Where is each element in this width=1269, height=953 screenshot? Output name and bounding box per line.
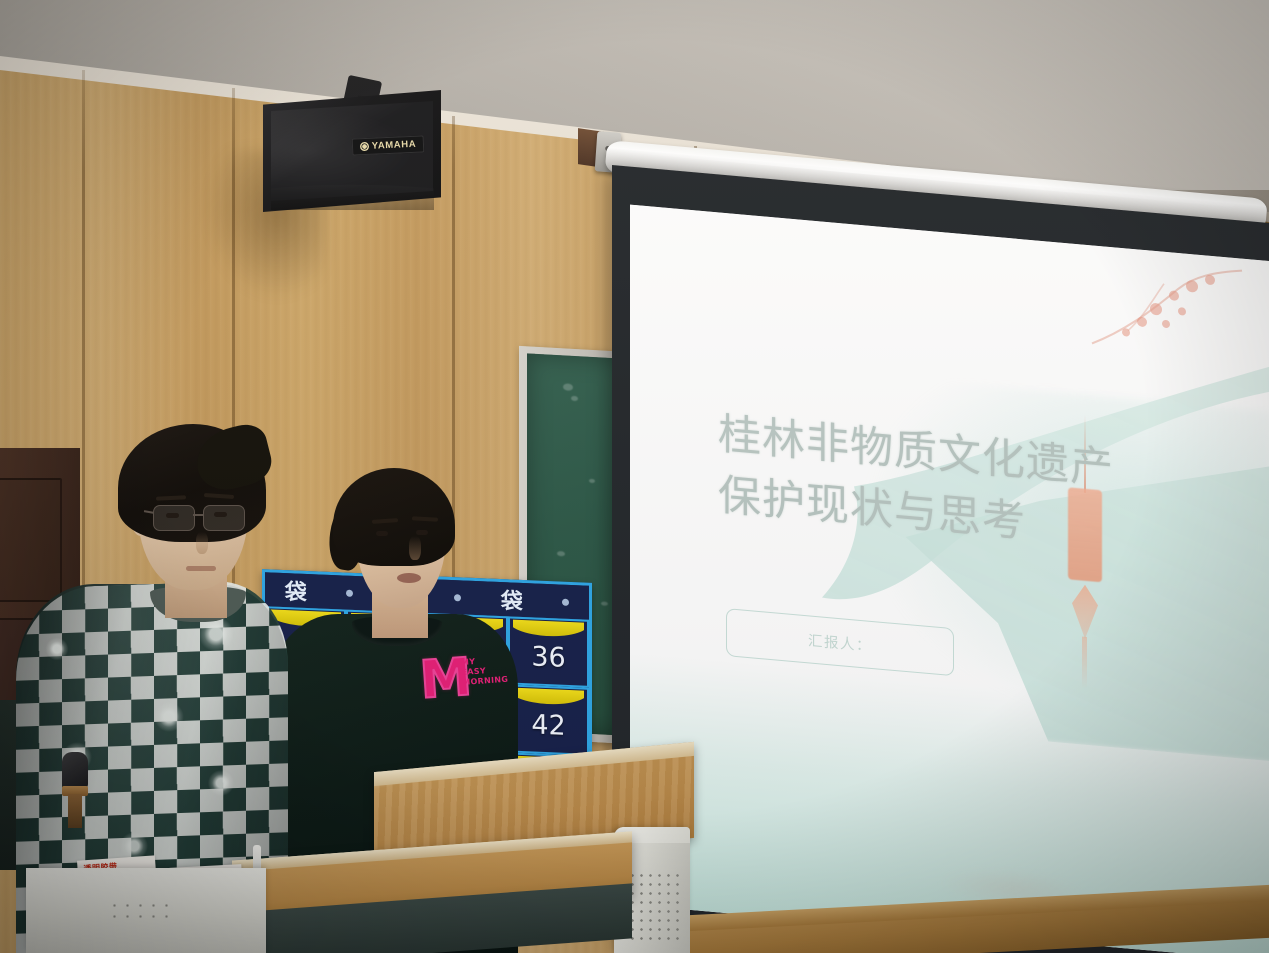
right-student-mouth [397, 573, 421, 583]
right-student-eye [416, 530, 428, 535]
pocket-header-dot-icon [346, 589, 353, 596]
glasses-bridge [193, 514, 203, 516]
lantern-tail [1082, 637, 1087, 689]
pocket-flap [513, 620, 584, 638]
pocket-header-dot-icon [562, 598, 569, 605]
podium-tower-vent-grille [628, 871, 680, 945]
shirt-medallion [44, 636, 70, 662]
lantern-tassel [1072, 584, 1098, 640]
shirt-medallion [152, 700, 186, 734]
projector-screen: 桂林非物质文化遗产 保护现状与思考 汇报人： [612, 165, 1269, 953]
equipment-box [26, 868, 266, 953]
yamaha-tuning-fork-icon [360, 142, 369, 151]
slide-plum-blossom-graphic [1082, 255, 1252, 380]
glasses-lens-right [203, 505, 245, 531]
presentation-slide: 桂林非物质文化遗产 保护现状与思考 汇报人： [630, 205, 1269, 953]
microphone-stem [68, 794, 82, 828]
sweatshirt-logo: M MY EASY MORNING [416, 639, 507, 717]
right-student-eye [376, 531, 388, 536]
speaker-brand-badge: YAMAHA [352, 135, 425, 155]
pocket-header-char: 袋 [285, 574, 307, 607]
logo-line-2: EASY [461, 666, 486, 677]
logo-subtext: MY EASY MORNING [461, 655, 507, 688]
pocket-flap [513, 688, 584, 706]
left-student-mouth [186, 566, 216, 571]
pocket-header-char: 袋 [501, 583, 523, 616]
pocket-number: 36 [531, 641, 565, 673]
microphone-icon[interactable] [62, 752, 88, 790]
right-student-nose [409, 536, 421, 560]
eyeglasses [153, 505, 249, 531]
logo-line-1: MY [461, 657, 476, 667]
classroom-photo: YAMAHA [0, 0, 1269, 953]
speaker-brand-label: YAMAHA [372, 139, 417, 152]
left-student-nose [196, 532, 208, 554]
logo-line-3: MORNING [462, 675, 508, 687]
left-student-eye [214, 512, 227, 517]
glasses-lens-left [153, 505, 195, 531]
pocket-header-dot-icon [454, 594, 461, 601]
pocket-cell[interactable]: 42 [508, 684, 589, 755]
door-panel-upper [0, 478, 62, 602]
shirt-medallion [206, 768, 236, 798]
left-student-eye [166, 513, 179, 518]
equipment-box-vent-grille [108, 900, 178, 922]
screen-projection-area: 桂林非物质文化遗产 保护现状与思考 汇报人： [630, 205, 1269, 953]
pocket-cell[interactable]: 36 [508, 616, 589, 687]
pocket-number: 42 [531, 709, 565, 741]
